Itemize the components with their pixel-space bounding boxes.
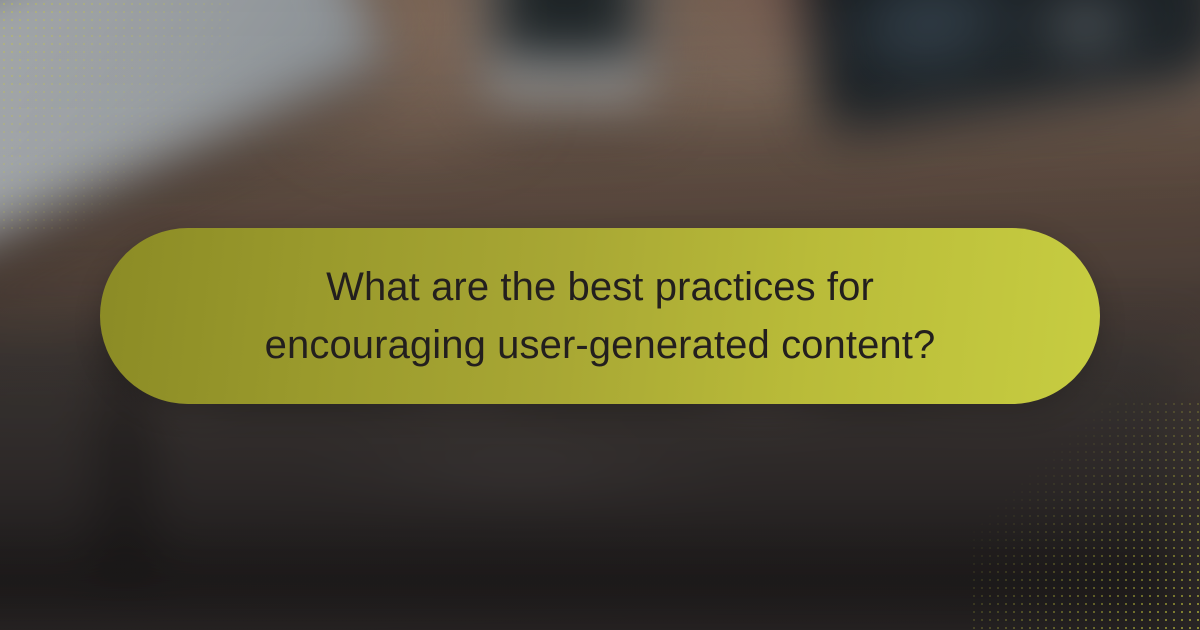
question-text: What are the best practices for encourag… [250,258,950,374]
screenshot-canvas: What are the best practices for encourag… [0,0,1200,630]
question-card: What are the best practices for encourag… [100,228,1100,404]
